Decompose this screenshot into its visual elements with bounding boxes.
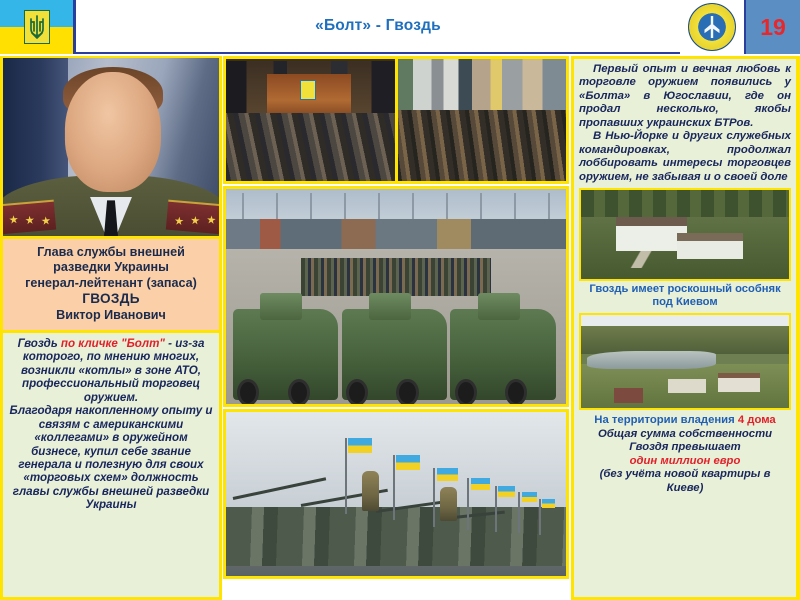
slide-number: 19: [760, 14, 786, 41]
mansion-caption-line-1: Гвоздь имеет роскошный особняк: [579, 283, 791, 296]
estate-houses-label: На территории владения: [594, 414, 738, 426]
seized-weapons-press-conference-photo: [223, 56, 398, 184]
flag-pole: [495, 486, 497, 532]
bio-p1-prefix: Гвоздь: [18, 337, 61, 350]
name-line-1: Глава службы внешней: [8, 245, 214, 260]
flag-pole: [433, 468, 435, 527]
slide-title-zone: «Болт» - Гвоздь: [76, 0, 680, 52]
ukraine-flag-icon: [542, 499, 555, 508]
bio-paragraph-2: Благодаря накопленному опыту и связям с …: [9, 404, 213, 512]
ukraine-flag-icon: [348, 438, 372, 453]
presentation-slide: «Болт» - Гвоздь 19: [0, 0, 800, 600]
foreign-intelligence-service-emblem-icon: [688, 3, 736, 51]
tanks-with-ukrainian-flags-photo: [223, 409, 569, 579]
tank-column: [226, 507, 566, 566]
page-title: «Болт» - Гвоздь: [315, 17, 441, 35]
mansion-caption-line-2: под Киевом: [579, 296, 791, 309]
armored-vehicle-2: [342, 309, 447, 399]
guns-b-people: [398, 59, 566, 115]
estate-total-line-1: Общая сумма собственности: [579, 428, 791, 442]
estate-houses-line: На территории владения 4 дома: [579, 414, 791, 428]
armored-vehicle-3: [450, 309, 555, 399]
left-column: Глава службы внешней разведки Украины ге…: [0, 56, 222, 600]
gvozd-estate-aerial-photo: [579, 313, 791, 410]
estate-total-line-2: Гвоздя превышает: [579, 441, 791, 455]
general-portrait-photo: [0, 56, 222, 239]
flag-pole: [518, 492, 520, 533]
podium-tryzub-icon: [300, 80, 316, 100]
bio-paragraph-1: Гвоздь по кличке "Болт" - из-за которого…: [9, 337, 213, 404]
estate-summary-text: На территории владения 4 дома Общая сумм…: [579, 414, 791, 495]
officer-surname: ГВОЗДЬ: [8, 291, 214, 308]
officer-bio-panel: Гвоздь по кличке "Болт" - из-за которого…: [0, 333, 222, 600]
vehicle-wheel: [396, 379, 418, 406]
guns-a-weapons-pile: [226, 113, 395, 181]
flag-pole: [345, 438, 347, 513]
right-paragraph-2: В Нью-Йорке и других служебных командиро…: [579, 130, 791, 184]
gvozd-mansion-aerial-photo: [579, 188, 791, 281]
portrait-epaulette-left: [0, 200, 56, 235]
weapons-market-stall-photo: [398, 56, 569, 184]
vehicle-turret: [478, 293, 520, 320]
right-narrative-text: Первый опыт и вечная любовь к торговле о…: [579, 63, 791, 184]
right-paragraph-1: Первый опыт и вечная любовь к торговле о…: [579, 63, 791, 130]
center-photo-column: [222, 56, 570, 600]
guns-b-weapons-table: [398, 110, 566, 181]
slide-header: «Болт» - Гвоздь 19: [0, 0, 800, 54]
armored-vehicle-1: [233, 309, 338, 399]
ukraine-flag-icon: [522, 492, 537, 502]
vehicle-wheel: [288, 379, 310, 406]
emblem-zone: [680, 0, 744, 54]
slide-body: Глава службы внешней разведки Украины ге…: [0, 56, 800, 600]
vehicle-wheel: [455, 379, 477, 406]
slide-number-badge: 19: [744, 0, 800, 54]
ukraine-flag-icon: [498, 486, 515, 497]
name-line-2: разведки Украины: [8, 260, 214, 275]
ukraine-flag-icon: [396, 455, 420, 470]
mansion-annex-building: [677, 233, 744, 260]
flag-pole: [467, 478, 469, 530]
soldier-figure: [440, 487, 457, 521]
estate-houses-count: 4 дома: [738, 414, 776, 426]
vehicle-wheel: [237, 379, 259, 406]
ukraine-flag-icon: [437, 468, 458, 481]
vehicle-turret: [369, 293, 411, 320]
estate-house-3: [718, 373, 760, 392]
ukraine-tryzub-icon: [24, 10, 50, 44]
ukraine-flag-icon: [0, 0, 76, 54]
estate-lake: [587, 351, 716, 370]
mansion-treeline: [581, 190, 789, 217]
bio-nickname-highlight: по кличке "Болт": [61, 337, 165, 350]
ukraine-flag-icon: [471, 478, 490, 490]
vehicle-wheel: [346, 379, 368, 406]
armored-vehicles-port-delivery-photo: [223, 186, 569, 407]
mansion-caption: Гвоздь имеет роскошный особняк под Киево…: [579, 283, 791, 309]
estate-note-line-2: Киеве): [579, 482, 791, 496]
name-line-3: генерал-лейтенант (запаса): [8, 276, 214, 291]
estate-total-value: один миллион евро: [579, 455, 791, 469]
flag-pole: [393, 455, 395, 521]
estate-house-1: [614, 388, 643, 403]
vehicle-turret: [260, 293, 302, 320]
portrait-epaulette-right: [166, 200, 222, 235]
estate-note-line-1: (без учёта новой квартиры в: [579, 468, 791, 482]
officer-name-panel: Глава службы внешней разведки Украины ге…: [0, 239, 222, 333]
estate-house-2: [668, 379, 705, 393]
flag-pole: [539, 499, 541, 535]
officer-given-name: Виктор Иванович: [8, 308, 214, 323]
right-info-column: Первый опыт и вечная любовь к торговле о…: [571, 56, 800, 600]
weapons-photo-row: [223, 56, 569, 184]
port-crowd: [301, 258, 491, 297]
portrait-face: [65, 72, 161, 192]
soldier-figure: [362, 471, 379, 511]
